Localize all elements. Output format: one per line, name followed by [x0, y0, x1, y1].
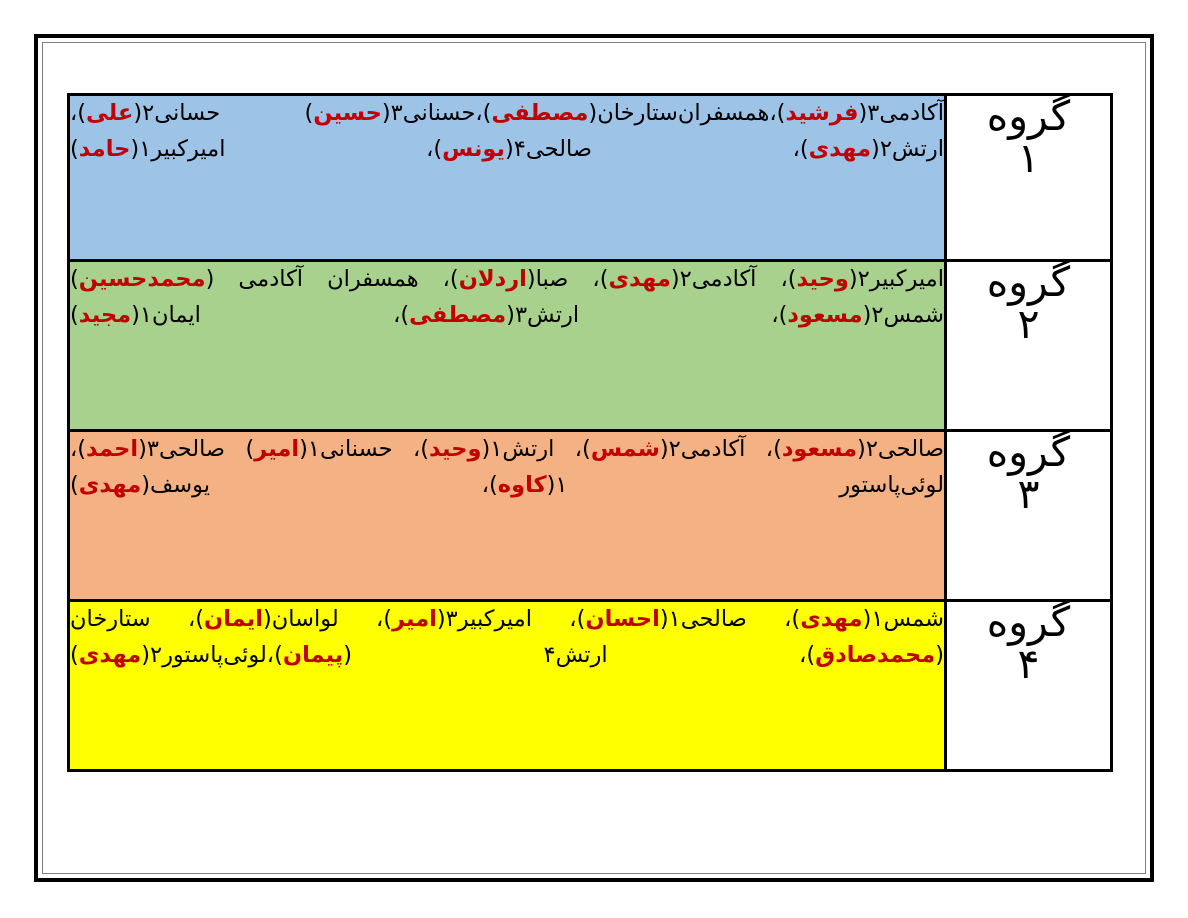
members-cell-1: آکادمی۳(فرشید)،همسفران‌ستارخان(مصطفی)،حس…: [69, 95, 946, 261]
group-label-cell-3: گروه ۳: [946, 431, 1112, 601]
group-label-cell-4: گروه ۴: [946, 601, 1112, 771]
members-text-3: صالحی۲(مسعود)، آکادمی۲(شمس)، ارتش۱(وحید)…: [70, 432, 944, 503]
groups-table: گروه ۱ آکادمی۳(فرشید)،همسفران‌ستارخان(مص…: [67, 93, 1113, 772]
group-label-cell-2: گروه ۲: [946, 261, 1112, 431]
group-label-3: گروه ۳: [947, 432, 1110, 516]
table-row: گروه ۲ امیرکبیر۲(وحید)، آکادمی۲(مهدی)، ص…: [69, 261, 1112, 431]
members-text-1: آکادمی۳(فرشید)،همسفران‌ستارخان(مصطفی)،حس…: [70, 96, 944, 167]
page-frame-inner-border: گروه ۱ آکادمی۳(فرشید)،همسفران‌ستارخان(مص…: [42, 42, 1146, 874]
table-row: گروه ۳ صالحی۲(مسعود)، آکادمی۲(شمس)، ارتش…: [69, 431, 1112, 601]
members-cell-2: امیرکبیر۲(وحید)، آکادمی۲(مهدی)، صبا(اردل…: [69, 261, 946, 431]
table-row: گروه ۴ شمس۱(مهدی)، صالحی۱(احسان)، امیرکب…: [69, 601, 1112, 771]
members-cell-4: شمس۱(مهدی)، صالحی۱(احسان)، امیرکبیر۳(امی…: [69, 601, 946, 771]
group-label-4: گروه ۴: [947, 602, 1110, 686]
group-label-cell-1: گروه ۱: [946, 95, 1112, 261]
members-cell-3: صالحی۲(مسعود)، آکادمی۲(شمس)، ارتش۱(وحید)…: [69, 431, 946, 601]
group-label-1: گروه ۱: [947, 96, 1110, 180]
table-row: گروه ۱ آکادمی۳(فرشید)،همسفران‌ستارخان(مص…: [69, 95, 1112, 261]
members-text-4: شمس۱(مهدی)، صالحی۱(احسان)، امیرکبیر۳(امی…: [70, 602, 944, 673]
page-frame: گروه ۱ آکادمی۳(فرشید)،همسفران‌ستارخان(مص…: [34, 34, 1154, 882]
members-text-2: امیرکبیر۲(وحید)، آکادمی۲(مهدی)، صبا(اردل…: [70, 262, 944, 333]
group-label-2: گروه ۲: [947, 262, 1110, 346]
